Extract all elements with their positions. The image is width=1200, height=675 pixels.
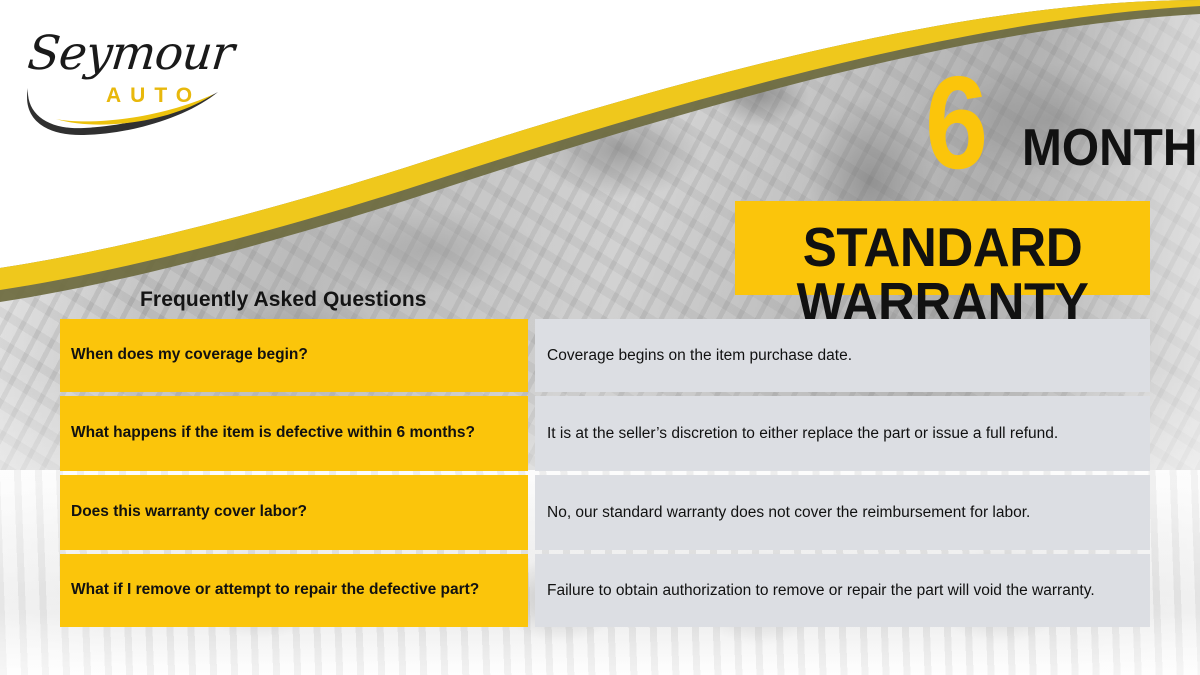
- faq-answer-text: No, our standard warranty does not cover…: [547, 502, 1138, 523]
- logo-wordmark: Seymour: [25, 26, 236, 81]
- faq-question-text: Does this warranty cover labor?: [71, 502, 307, 523]
- faq-question-cell: Does this warranty cover labor?: [60, 475, 528, 550]
- faq-row: Does this warranty cover labor? No, our …: [60, 475, 1150, 550]
- standard-warranty-label: STANDARD WARRANTY: [750, 220, 1136, 330]
- faq-answer-cell: It is at the seller’s discretion to eith…: [535, 396, 1150, 471]
- faq-row: What if I remove or attempt to repair th…: [60, 554, 1150, 627]
- faq-answer-cell: No, our standard warranty does not cover…: [535, 475, 1150, 550]
- faq-heading: Frequently Asked Questions: [140, 288, 427, 312]
- faq-table: When does my coverage begin? Coverage be…: [60, 319, 1150, 627]
- faq-answer-cell: Failure to obtain authorization to remov…: [535, 554, 1150, 627]
- faq-answer-text: It is at the seller’s discretion to eith…: [547, 423, 1138, 444]
- seymour-auto-logo: Seymour AUTO: [22, 22, 237, 137]
- faq-question-cell: What happens if the item is defective wi…: [60, 396, 528, 471]
- faq-row: When does my coverage begin? Coverage be…: [60, 319, 1150, 392]
- faq-question-text: What happens if the item is defective wi…: [71, 423, 475, 444]
- faq-question-cell: What if I remove or attempt to repair th…: [60, 554, 528, 627]
- faq-question-cell: When does my coverage begin?: [60, 319, 528, 392]
- faq-row: What happens if the item is defective wi…: [60, 396, 1150, 471]
- faq-answer-cell: Coverage begins on the item purchase dat…: [535, 319, 1150, 392]
- faq-answer-text: Coverage begins on the item purchase dat…: [547, 345, 1138, 366]
- warranty-duration-unit: MONTH: [1022, 122, 1197, 174]
- warranty-duration-number: 6: [925, 72, 986, 175]
- faq-question-text: When does my coverage begin?: [71, 345, 308, 366]
- warranty-slide: Seymour AUTO 6 MONTH STANDARD WARRANTY F…: [0, 0, 1200, 675]
- standard-warranty-banner: STANDARD WARRANTY: [735, 201, 1150, 295]
- logo-subtitle: AUTO: [106, 84, 201, 108]
- faq-question-text: What if I remove or attempt to repair th…: [71, 580, 479, 601]
- faq-answer-text: Failure to obtain authorization to remov…: [547, 580, 1138, 601]
